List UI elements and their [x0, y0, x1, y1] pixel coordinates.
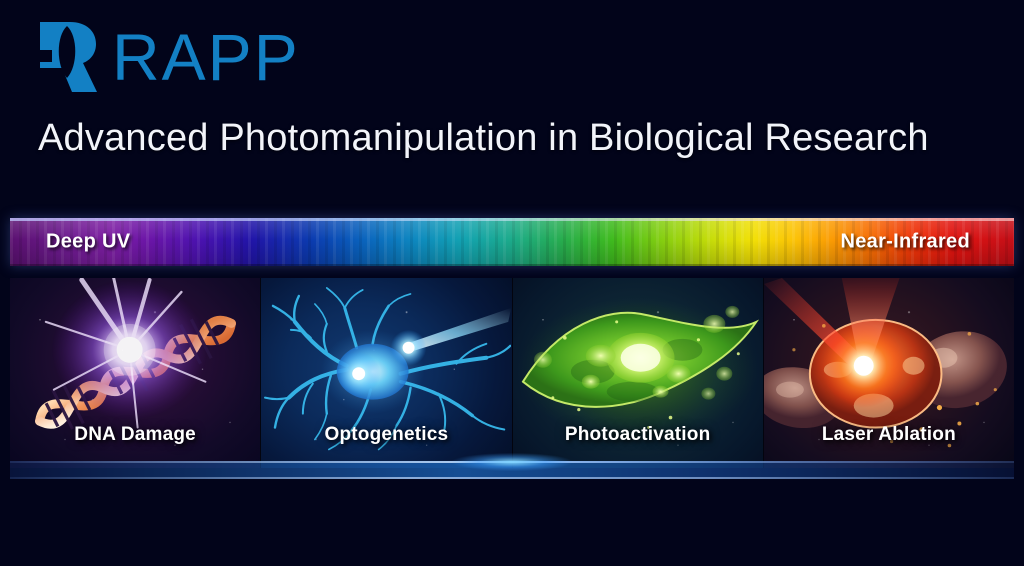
- technique-panel-strip: DNA Damage: [10, 278, 1014, 468]
- brand-wordmark: RAPP: [112, 24, 300, 90]
- panel-dna-damage[interactable]: DNA Damage: [10, 278, 260, 468]
- rapp-lens-r-mark-icon: [36, 22, 98, 92]
- spectrum-label-near-infrared: Near-Infrared: [841, 231, 971, 254]
- spectrum-bar: Deep UV Near-Infrared: [10, 218, 1014, 266]
- page-title: Advanced Photomanipulation in Biological…: [38, 117, 929, 160]
- panel-label-laser-ablation: Laser Ablation: [764, 424, 1014, 446]
- spectrum-bottom-shadow: [10, 264, 1014, 266]
- panel-label-photoactivation: Photoactivation: [513, 424, 763, 446]
- rail-line-bottom: [10, 477, 1014, 479]
- spectrum-label-deep-uv: Deep UV: [46, 231, 130, 254]
- brand-logo[interactable]: RAPP: [36, 22, 300, 92]
- panel-label-optogenetics: Optogenetics: [261, 424, 511, 446]
- footer-background: [0, 498, 1024, 566]
- panel-label-dna-damage: DNA Damage: [10, 424, 260, 446]
- panel-photoactivation[interactable]: Photoactivation: [512, 278, 763, 468]
- panel-laser-ablation[interactable]: Laser Ablation: [763, 278, 1014, 468]
- panel-optogenetics[interactable]: Optogenetics: [260, 278, 511, 468]
- spectrum-top-highlight: [10, 218, 1014, 221]
- header-banner: RAPP Advanced Photomanipulation in Biolo…: [0, 0, 1024, 200]
